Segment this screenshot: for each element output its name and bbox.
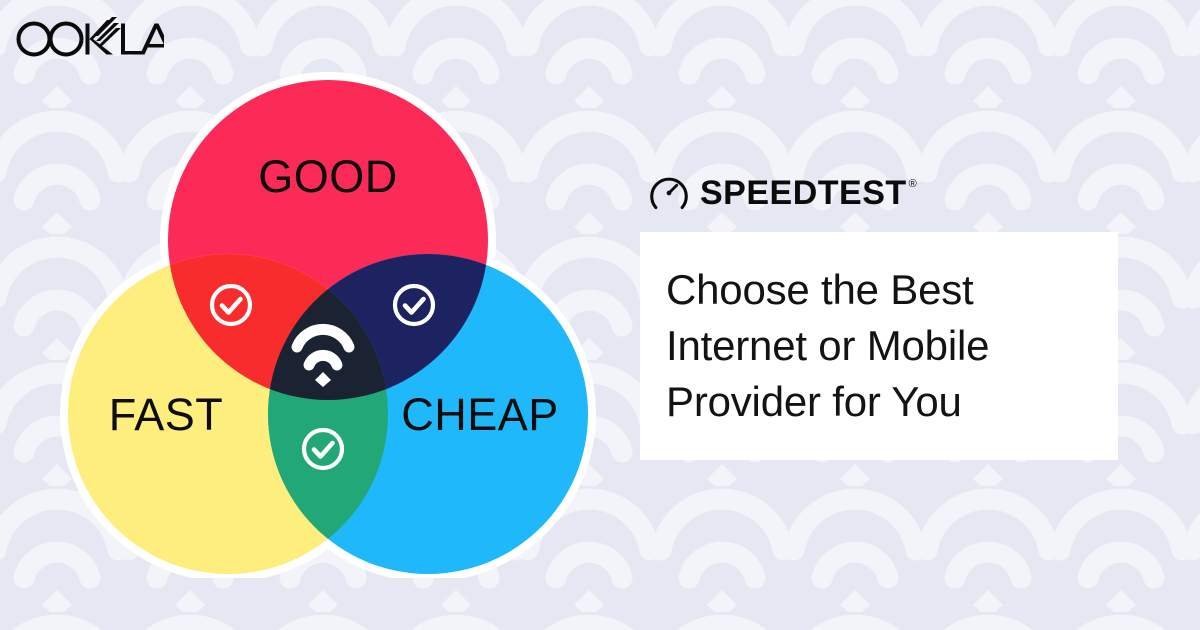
- speedtest-wordmark: SPEEDTEST: [700, 174, 907, 213]
- headline-line-2: Internet or Mobile: [666, 318, 1118, 374]
- poster-canvas: GOOD FAST CHEAP: [0, 0, 1200, 630]
- ookla-logo: [14, 16, 164, 60]
- venn-diagram: GOOD FAST CHEAP: [48, 62, 608, 578]
- headline-line-3: Provider for You: [666, 374, 1118, 430]
- speedometer-icon: [649, 173, 689, 213]
- right-column: SPEEDTEST ® Choose the Best Internet or …: [640, 170, 1120, 460]
- speedtest-logo: SPEEDTEST ®: [640, 170, 1120, 216]
- venn-label-good: GOOD: [258, 151, 398, 202]
- speedtest-registered-mark: ®: [909, 178, 917, 190]
- headline-card: Choose the Best Internet or Mobile Provi…: [640, 232, 1118, 460]
- venn-label-fast: FAST: [109, 389, 224, 440]
- venn-label-cheap: CHEAP: [401, 389, 559, 440]
- headline-line-1: Choose the Best: [666, 262, 1118, 318]
